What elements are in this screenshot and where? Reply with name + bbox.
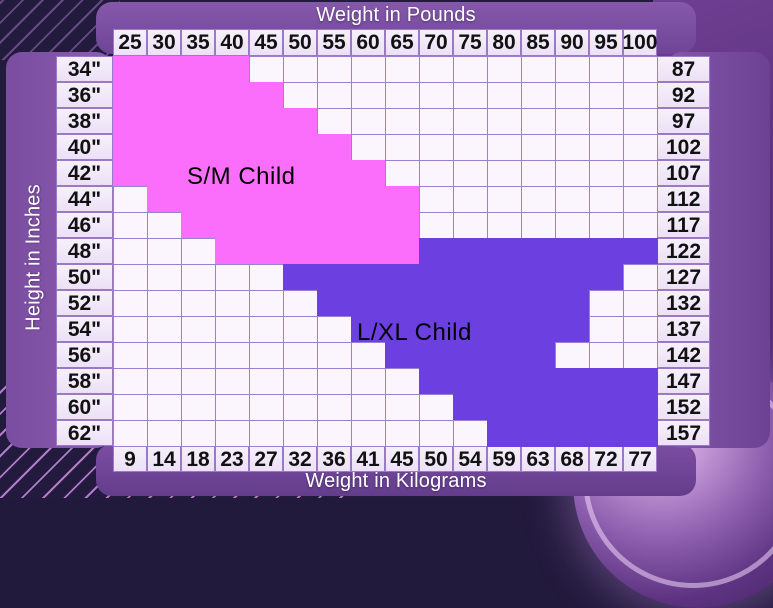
grid-cell-empty[interactable]	[147, 342, 182, 369]
grid-cell-lxl-child[interactable]	[453, 394, 488, 421]
grid-cell-sm-child[interactable]	[215, 134, 250, 161]
tick-label-centimeters: 92	[657, 82, 710, 108]
grid-cell-empty[interactable]	[113, 342, 148, 369]
grid-cell-empty[interactable]	[521, 186, 556, 213]
grid-cell-lxl-child[interactable]	[453, 316, 488, 343]
grid-cell-sm-child[interactable]	[215, 212, 250, 239]
grid-cell-empty[interactable]	[487, 160, 522, 187]
grid-cell-sm-child[interactable]	[283, 186, 318, 213]
grid-cell-sm-child[interactable]	[249, 212, 284, 239]
grid-cell-empty[interactable]	[283, 316, 318, 343]
grid-cell-empty[interactable]	[283, 342, 318, 369]
tick-label-pounds: 75	[453, 29, 487, 56]
grid-cell-empty[interactable]	[521, 82, 556, 109]
grid-cell-empty[interactable]	[147, 316, 182, 343]
grid-cell-lxl-child[interactable]	[453, 238, 488, 265]
tick-label-kilograms: 41	[351, 446, 385, 472]
grid-cell-empty[interactable]	[249, 290, 284, 317]
tick-label-pounds: 65	[385, 29, 419, 56]
tick-label-kilograms: 23	[215, 446, 249, 472]
grid-cell-lxl-child[interactable]	[419, 238, 454, 265]
grid-cell-empty[interactable]	[419, 160, 454, 187]
grid-cell-sm-child[interactable]	[113, 108, 148, 135]
grid-cell-sm-child[interactable]	[181, 108, 216, 135]
grid-cell-sm-child[interactable]	[283, 160, 318, 187]
grid-cell-lxl-child[interactable]	[385, 290, 420, 317]
grid-cell-empty[interactable]	[181, 290, 216, 317]
grid-cell-empty[interactable]	[351, 82, 386, 109]
grid-cell-lxl-child[interactable]	[521, 238, 556, 265]
size-chart-root: Weight in Pounds Weight in Kilograms Hei…	[0, 0, 773, 498]
grid-cell-sm-child[interactable]	[147, 82, 182, 109]
grid-cell-lxl-child[interactable]	[521, 264, 556, 291]
grid-cell-empty[interactable]	[487, 134, 522, 161]
grid-cell-lxl-child[interactable]	[623, 420, 658, 447]
grid-cell-empty[interactable]	[589, 342, 624, 369]
grid-cell-empty[interactable]	[453, 82, 488, 109]
grid-cell-lxl-child[interactable]	[623, 368, 658, 395]
grid-cell-lxl-child[interactable]	[385, 342, 420, 369]
grid-cell-empty[interactable]	[555, 82, 590, 109]
grid-cell-empty[interactable]	[113, 186, 148, 213]
grid-cell-empty[interactable]	[215, 316, 250, 343]
grid-cell-empty[interactable]	[623, 290, 658, 317]
tick-label-kilograms: 63	[521, 446, 555, 472]
grid-cell-empty[interactable]	[419, 394, 454, 421]
grid-cell-sm-child[interactable]	[385, 238, 420, 265]
grid-cell-empty[interactable]	[283, 56, 318, 83]
grid-cell-lxl-child[interactable]	[521, 420, 556, 447]
grid-cell-lxl-child[interactable]	[487, 264, 522, 291]
grid-cell-sm-child[interactable]	[351, 238, 386, 265]
grid-cell-sm-child[interactable]	[113, 82, 148, 109]
grid-cell-sm-child[interactable]	[113, 134, 148, 161]
grid-cell-empty[interactable]	[623, 56, 658, 83]
grid-cell-empty[interactable]	[351, 108, 386, 135]
grid-cell-empty[interactable]	[385, 82, 420, 109]
grid-cell-empty[interactable]	[385, 368, 420, 395]
grid-cell-empty[interactable]	[181, 264, 216, 291]
tick-label-centimeters: 122	[657, 238, 710, 264]
tick-label-pounds: 35	[181, 29, 215, 56]
grid-cell-empty[interactable]	[215, 342, 250, 369]
grid-cell-lxl-child[interactable]	[555, 264, 590, 291]
tick-label-inches: 40"	[56, 134, 113, 160]
grid-cell-empty[interactable]	[215, 394, 250, 421]
grid-cell-empty[interactable]	[555, 134, 590, 161]
grid-cell-empty[interactable]	[283, 290, 318, 317]
grid-cell-empty[interactable]	[589, 290, 624, 317]
grid-cell-empty[interactable]	[317, 420, 352, 447]
grid-cell-sm-child[interactable]	[113, 160, 148, 187]
grid-cell-empty[interactable]	[249, 420, 284, 447]
grid-cell-lxl-child[interactable]	[487, 420, 522, 447]
grid-cell-sm-child[interactable]	[215, 82, 250, 109]
grid-cell-sm-child[interactable]	[147, 134, 182, 161]
grid-cell-lxl-child[interactable]	[385, 264, 420, 291]
tick-label-centimeters: 142	[657, 342, 710, 368]
tick-label-pounds: 90	[555, 29, 589, 56]
grid-cell-lxl-child[interactable]	[487, 238, 522, 265]
tick-label-inches: 62"	[56, 420, 113, 446]
grid-cell-empty[interactable]	[453, 420, 488, 447]
grid-cell-empty[interactable]	[147, 212, 182, 239]
grid-cell-empty[interactable]	[589, 316, 624, 343]
grid-cell-sm-child[interactable]	[385, 186, 420, 213]
grid-cell-sm-child[interactable]	[215, 238, 250, 265]
tick-label-inches: 52"	[56, 290, 113, 316]
grid-cell-lxl-child[interactable]	[623, 394, 658, 421]
grid-cell-sm-child[interactable]	[215, 108, 250, 135]
grid-cell-lxl-child[interactable]	[419, 290, 454, 317]
grid-cell-sm-child[interactable]	[249, 186, 284, 213]
grid-cell-sm-child[interactable]	[181, 212, 216, 239]
grid-cell-empty[interactable]	[453, 212, 488, 239]
tick-label-centimeters: 152	[657, 394, 710, 420]
tick-label-pounds: 45	[249, 29, 283, 56]
grid-cell-empty[interactable]	[419, 108, 454, 135]
grid-cell-lxl-child[interactable]	[283, 264, 318, 291]
grid-cell-empty[interactable]	[317, 368, 352, 395]
tick-label-kilograms: 18	[181, 446, 215, 472]
grid-cell-empty[interactable]	[147, 264, 182, 291]
grid-cell-lxl-child[interactable]	[351, 316, 386, 343]
grid-cell-lxl-child[interactable]	[589, 368, 624, 395]
grid-cell-sm-child[interactable]	[385, 212, 420, 239]
grid-cell-empty[interactable]	[385, 394, 420, 421]
tick-label-inches: 50"	[56, 264, 113, 290]
grid-cell-empty[interactable]	[317, 56, 352, 83]
grid-cell-empty[interactable]	[215, 368, 250, 395]
grid-cell-empty[interactable]	[113, 290, 148, 317]
grid-cell-empty[interactable]	[147, 238, 182, 265]
grid-cell-empty[interactable]	[623, 342, 658, 369]
grid-cell-empty[interactable]	[589, 134, 624, 161]
grid-cell-empty[interactable]	[453, 134, 488, 161]
grid-cell-lxl-child[interactable]	[521, 368, 556, 395]
grid-cell-sm-child[interactable]	[147, 108, 182, 135]
tick-label-centimeters: 127	[657, 264, 710, 290]
grid-cell-empty[interactable]	[487, 186, 522, 213]
grid-cell-sm-child[interactable]	[317, 212, 352, 239]
top-axis-title: Weight in Pounds	[96, 4, 696, 27]
grid-cell-lxl-child[interactable]	[589, 264, 624, 291]
grid-cell-lxl-child[interactable]	[351, 264, 386, 291]
tick-label-centimeters: 117	[657, 212, 710, 238]
tick-label-centimeters: 137	[657, 316, 710, 342]
grid-cell-empty[interactable]	[351, 420, 386, 447]
tick-label-inches: 54"	[56, 316, 113, 342]
grid-cell-empty[interactable]	[623, 212, 658, 239]
grid-cell-empty[interactable]	[623, 134, 658, 161]
tick-label-inches: 36"	[56, 82, 113, 108]
grid-cell-empty[interactable]	[589, 82, 624, 109]
tick-label-inches: 60"	[56, 394, 113, 420]
grid-cell-empty[interactable]	[351, 342, 386, 369]
tick-label-centimeters: 147	[657, 368, 710, 394]
grid-cell-empty[interactable]	[181, 420, 216, 447]
left-axis-title: Height in Inches	[23, 48, 46, 468]
grid-cell-lxl-child[interactable]	[487, 316, 522, 343]
grid-cell-empty[interactable]	[521, 108, 556, 135]
grid-cell-sm-child[interactable]	[283, 134, 318, 161]
grid-cell-lxl-child[interactable]	[317, 290, 352, 317]
grid-cell-sm-child[interactable]	[249, 134, 284, 161]
grid-cell-empty[interactable]	[283, 368, 318, 395]
grid-cell-sm-child[interactable]	[215, 56, 250, 83]
grid-cell-empty[interactable]	[589, 160, 624, 187]
grid-cell-empty[interactable]	[181, 342, 216, 369]
tick-label-inches: 46"	[56, 212, 113, 238]
size-grid[interactable]: S/M ChildL/XL Child	[113, 56, 657, 446]
tick-label-pounds: 95	[589, 29, 623, 56]
grid-cell-empty[interactable]	[249, 316, 284, 343]
grid-cell-empty[interactable]	[385, 108, 420, 135]
grid-cell-sm-child[interactable]	[249, 108, 284, 135]
grid-cell-empty[interactable]	[589, 212, 624, 239]
grid-cell-sm-child[interactable]	[351, 160, 386, 187]
grid-cell-sm-child[interactable]	[317, 238, 352, 265]
grid-cell-lxl-child[interactable]	[521, 290, 556, 317]
grid-cell-empty[interactable]	[385, 160, 420, 187]
grid-cell-lxl-child[interactable]	[419, 368, 454, 395]
tick-label-pounds: 40	[215, 29, 249, 56]
grid-cell-sm-child[interactable]	[249, 160, 284, 187]
grid-cell-empty[interactable]	[521, 160, 556, 187]
grid-cell-empty[interactable]	[317, 394, 352, 421]
grid-cell-sm-child[interactable]	[147, 160, 182, 187]
grid-cell-sm-child[interactable]	[317, 134, 352, 161]
grid-cell-lxl-child[interactable]	[521, 394, 556, 421]
tick-label-pounds: 60	[351, 29, 385, 56]
tick-label-centimeters: 97	[657, 108, 710, 134]
grid-cell-empty[interactable]	[283, 82, 318, 109]
grid-cell-empty[interactable]	[487, 108, 522, 135]
grid-cell-empty[interactable]	[555, 342, 590, 369]
grid-cell-empty[interactable]	[215, 420, 250, 447]
grid-cell-lxl-child[interactable]	[487, 394, 522, 421]
grid-cell-empty[interactable]	[521, 134, 556, 161]
grid-cell-lxl-child[interactable]	[555, 316, 590, 343]
grid-cell-sm-child[interactable]	[181, 56, 216, 83]
grid-cell-lxl-child[interactable]	[555, 420, 590, 447]
grid-cell-empty[interactable]	[113, 264, 148, 291]
tick-label-inches: 44"	[56, 186, 113, 212]
grid-cell-empty[interactable]	[283, 394, 318, 421]
tick-label-kilograms: 9	[113, 446, 147, 472]
grid-cell-empty[interactable]	[215, 264, 250, 291]
grid-cell-empty[interactable]	[487, 56, 522, 83]
tick-label-inches: 48"	[56, 238, 113, 264]
grid-cell-empty[interactable]	[487, 82, 522, 109]
grid-cell-lxl-child[interactable]	[453, 368, 488, 395]
grid-cell-sm-child[interactable]	[181, 134, 216, 161]
tick-label-kilograms: 14	[147, 446, 181, 472]
grid-cell-empty[interactable]	[453, 160, 488, 187]
grid-cell-lxl-child[interactable]	[385, 316, 420, 343]
grid-cell-empty[interactable]	[385, 420, 420, 447]
grid-cell-sm-child[interactable]	[215, 186, 250, 213]
grid-cell-empty[interactable]	[521, 56, 556, 83]
grid-cell-empty[interactable]	[623, 82, 658, 109]
grid-cell-sm-child[interactable]	[283, 238, 318, 265]
tick-label-pounds: 55	[317, 29, 351, 56]
grid-cell-lxl-child[interactable]	[589, 238, 624, 265]
tick-label-kilograms: 77	[623, 446, 657, 472]
grid-cell-sm-child[interactable]	[283, 212, 318, 239]
grid-cell-empty[interactable]	[589, 56, 624, 83]
grid-cell-empty[interactable]	[623, 264, 658, 291]
grid-cell-empty[interactable]	[351, 134, 386, 161]
tick-label-kilograms: 45	[385, 446, 419, 472]
grid-cell-empty[interactable]	[555, 186, 590, 213]
bottom-axis-title: Weight in Kilograms	[96, 470, 696, 493]
grid-cell-empty[interactable]	[181, 316, 216, 343]
grid-cell-empty[interactable]	[113, 420, 148, 447]
grid-cell-empty[interactable]	[181, 238, 216, 265]
grid-cell-empty[interactable]	[419, 82, 454, 109]
grid-cell-empty[interactable]	[181, 368, 216, 395]
grid-cell-empty[interactable]	[249, 264, 284, 291]
grid-cell-empty[interactable]	[317, 82, 352, 109]
grid-cell-lxl-child[interactable]	[555, 394, 590, 421]
grid-cell-empty[interactable]	[317, 108, 352, 135]
grid-cell-empty[interactable]	[113, 238, 148, 265]
grid-cell-empty[interactable]	[419, 56, 454, 83]
grid-cell-empty[interactable]	[555, 56, 590, 83]
grid-cell-empty[interactable]	[623, 316, 658, 343]
grid-cell-lxl-child[interactable]	[589, 420, 624, 447]
grid-cell-empty[interactable]	[147, 368, 182, 395]
grid-cell-empty[interactable]	[623, 186, 658, 213]
grid-cell-empty[interactable]	[317, 316, 352, 343]
tick-label-inches: 34"	[56, 56, 113, 82]
tick-label-inches: 56"	[56, 342, 113, 368]
grid-cell-empty[interactable]	[147, 394, 182, 421]
grid-cell-empty[interactable]	[147, 420, 182, 447]
grid-cell-empty[interactable]	[215, 290, 250, 317]
grid-cell-empty[interactable]	[419, 420, 454, 447]
grid-cell-empty[interactable]	[555, 108, 590, 135]
grid-cell-empty[interactable]	[249, 368, 284, 395]
tick-label-pounds: 70	[419, 29, 453, 56]
grid-cell-empty[interactable]	[147, 290, 182, 317]
grid-cell-empty[interactable]	[555, 212, 590, 239]
grid-cell-lxl-child[interactable]	[521, 342, 556, 369]
tick-label-centimeters: 157	[657, 420, 710, 446]
tick-label-inches: 58"	[56, 368, 113, 394]
grid-cell-empty[interactable]	[589, 186, 624, 213]
grid-cell-empty[interactable]	[419, 186, 454, 213]
grid-cell-lxl-child[interactable]	[521, 316, 556, 343]
grid-cell-sm-child[interactable]	[113, 56, 148, 83]
grid-cell-empty[interactable]	[351, 394, 386, 421]
grid-cell-lxl-child[interactable]	[555, 238, 590, 265]
grid-cell-lxl-child[interactable]	[555, 290, 590, 317]
grid-cell-empty[interactable]	[487, 212, 522, 239]
grid-cell-empty[interactable]	[453, 56, 488, 83]
grid-cell-sm-child[interactable]	[283, 108, 318, 135]
tick-label-pounds: 100	[623, 29, 657, 56]
grid-cell-sm-child[interactable]	[249, 238, 284, 265]
tick-label-centimeters: 102	[657, 134, 710, 160]
grid-cell-sm-child[interactable]	[351, 186, 386, 213]
grid-cell-sm-child[interactable]	[181, 160, 216, 187]
grid-cell-lxl-child[interactable]	[317, 264, 352, 291]
grid-cell-empty[interactable]	[521, 212, 556, 239]
grid-cell-sm-child[interactable]	[181, 186, 216, 213]
grid-cell-empty[interactable]	[623, 108, 658, 135]
grid-cell-empty[interactable]	[589, 108, 624, 135]
tick-label-kilograms: 54	[453, 446, 487, 472]
grid-cell-empty[interactable]	[113, 368, 148, 395]
grid-cell-lxl-child[interactable]	[453, 342, 488, 369]
grid-cell-empty[interactable]	[181, 394, 216, 421]
tick-label-centimeters: 87	[657, 56, 710, 82]
grid-cell-lxl-child[interactable]	[419, 342, 454, 369]
tick-label-kilograms: 27	[249, 446, 283, 472]
tick-label-inches: 42"	[56, 160, 113, 186]
grid-cell-lxl-child[interactable]	[419, 264, 454, 291]
tick-label-inches: 38"	[56, 108, 113, 134]
grid-cell-sm-child[interactable]	[249, 82, 284, 109]
grid-cell-lxl-child[interactable]	[487, 290, 522, 317]
grid-cell-lxl-child[interactable]	[623, 238, 658, 265]
grid-cell-lxl-child[interactable]	[351, 290, 386, 317]
grid-cell-empty[interactable]	[317, 342, 352, 369]
grid-cell-empty[interactable]	[385, 56, 420, 83]
grid-cell-empty[interactable]	[385, 134, 420, 161]
grid-cell-empty[interactable]	[419, 212, 454, 239]
grid-cell-lxl-child[interactable]	[555, 368, 590, 395]
tick-label-kilograms: 36	[317, 446, 351, 472]
grid-cell-empty[interactable]	[113, 316, 148, 343]
grid-cell-sm-child[interactable]	[147, 186, 182, 213]
grid-cell-lxl-child[interactable]	[453, 264, 488, 291]
grid-cell-empty[interactable]	[113, 394, 148, 421]
grid-cell-empty[interactable]	[249, 394, 284, 421]
grid-cell-sm-child[interactable]	[215, 160, 250, 187]
grid-cell-empty[interactable]	[351, 56, 386, 83]
grid-cell-lxl-child[interactable]	[419, 316, 454, 343]
grid-cell-lxl-child[interactable]	[453, 290, 488, 317]
grid-cell-empty[interactable]	[453, 108, 488, 135]
tick-label-centimeters: 112	[657, 186, 710, 212]
grid-cell-empty[interactable]	[419, 134, 454, 161]
grid-cell-lxl-child[interactable]	[589, 394, 624, 421]
grid-cell-empty[interactable]	[113, 212, 148, 239]
grid-cell-empty[interactable]	[623, 160, 658, 187]
grid-cell-empty[interactable]	[249, 342, 284, 369]
grid-cell-sm-child[interactable]	[317, 160, 352, 187]
grid-cell-empty[interactable]	[351, 368, 386, 395]
grid-cell-empty[interactable]	[283, 420, 318, 447]
tick-label-kilograms: 32	[283, 446, 317, 472]
tick-label-centimeters: 132	[657, 290, 710, 316]
tick-label-kilograms: 68	[555, 446, 589, 472]
grid-cell-empty[interactable]	[555, 160, 590, 187]
grid-cell-empty[interactable]	[453, 186, 488, 213]
grid-cell-empty[interactable]	[249, 56, 284, 83]
tick-label-centimeters: 107	[657, 160, 710, 186]
grid-cell-sm-child[interactable]	[181, 82, 216, 109]
grid-cell-sm-child[interactable]	[317, 186, 352, 213]
grid-cell-sm-child[interactable]	[351, 212, 386, 239]
grid-cell-sm-child[interactable]	[147, 56, 182, 83]
tick-label-pounds: 50	[283, 29, 317, 56]
grid-cell-lxl-child[interactable]	[487, 342, 522, 369]
grid-cell-lxl-child[interactable]	[487, 368, 522, 395]
